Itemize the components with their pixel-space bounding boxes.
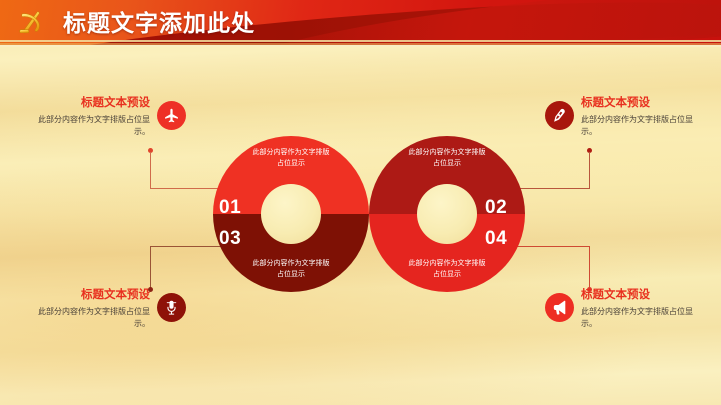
ring-left-hole — [261, 184, 321, 244]
header-divider-gold — [0, 40, 721, 42]
microphone-icon[interactable] — [157, 293, 186, 322]
ring-right-hole — [417, 184, 477, 244]
ring-label-04-line1: 此部分内容作为文字排版 — [409, 260, 486, 267]
info-block-top-right-text: 标题文本预设 此部分内容作为文字排版占位显示。 — [581, 96, 701, 138]
ring-label-01: 此部分内容作为文字排版 占位显示 — [235, 148, 347, 169]
connector-vertical — [589, 152, 590, 188]
info-block-bottom-right-text: 标题文本预设 此部分内容作为文字排版占位显示。 — [581, 288, 701, 330]
info-block-title: 标题文本预设 — [32, 288, 150, 303]
connector-vertical — [589, 246, 590, 288]
info-block-title: 标题文本预设 — [581, 288, 701, 303]
info-block-body: 此部分内容作为文字排版占位显示。 — [581, 306, 701, 330]
connector-vertical — [150, 152, 151, 188]
ring-label-03-line1: 此部分内容作为文字排版 — [253, 260, 330, 267]
info-block-title: 标题文本预设 — [581, 96, 701, 111]
info-block-body: 此部分内容作为文字排版占位显示。 — [32, 306, 150, 330]
ring-number-02: 02 — [485, 198, 507, 217]
connector-vertical — [150, 246, 151, 288]
slide-canvas: 标题文字添加此处 — [0, 0, 721, 405]
info-block-bottom-left[interactable]: 标题文本预设 此部分内容作为文字排版占位显示。 — [32, 288, 186, 330]
megaphone-icon[interactable] — [545, 293, 574, 322]
info-block-top-right[interactable]: 标题文本预设 此部分内容作为文字排版占位显示。 — [545, 96, 701, 138]
ring-label-02-line1: 此部分内容作为文字排版 — [409, 149, 486, 156]
ring-label-02-line2: 占位显示 — [433, 160, 461, 167]
pen-nib-icon[interactable] — [545, 101, 574, 130]
info-block-top-left[interactable]: 标题文本预设 此部分内容作为文字排版占位显示。 — [32, 96, 186, 138]
ring-label-04: 此部分内容作为文字排版 占位显示 — [391, 259, 503, 280]
ring-number-01: 01 — [219, 198, 241, 217]
info-block-body: 此部分内容作为文字排版占位显示。 — [32, 114, 150, 138]
ring-label-03: 此部分内容作为文字排版 占位显示 — [235, 259, 347, 280]
slide-header: 标题文字添加此处 — [0, 0, 721, 47]
page-title: 标题文字添加此处 — [63, 7, 255, 39]
info-block-title: 标题文本预设 — [32, 96, 150, 111]
ring-label-04-line2: 占位显示 — [433, 271, 461, 278]
info-block-body: 此部分内容作为文字排版占位显示。 — [581, 114, 701, 138]
info-block-bottom-right[interactable]: 标题文本预设 此部分内容作为文字排版占位显示。 — [545, 288, 701, 330]
ring-number-04: 04 — [485, 229, 507, 248]
airplane-icon[interactable] — [157, 101, 186, 130]
info-block-top-left-text: 标题文本预设 此部分内容作为文字排版占位显示。 — [32, 96, 150, 138]
header-divider-cream — [0, 45, 721, 47]
info-block-bottom-left-text: 标题文本预设 此部分内容作为文字排版占位显示。 — [32, 288, 150, 330]
ring-label-01-line1: 此部分内容作为文字排版 — [253, 149, 330, 156]
ring-label-01-line2: 占位显示 — [277, 160, 305, 167]
hammer-and-sickle-emblem-icon — [14, 6, 49, 41]
ring-label-03-line2: 占位显示 — [277, 271, 305, 278]
ring-number-03: 03 — [219, 229, 241, 248]
double-ring-diagram: 此部分内容作为文字排版 占位显示 此部分内容作为文字排版 占位显示 此部分内容作… — [213, 126, 525, 303]
ring-label-02: 此部分内容作为文字排版 占位显示 — [391, 148, 503, 169]
